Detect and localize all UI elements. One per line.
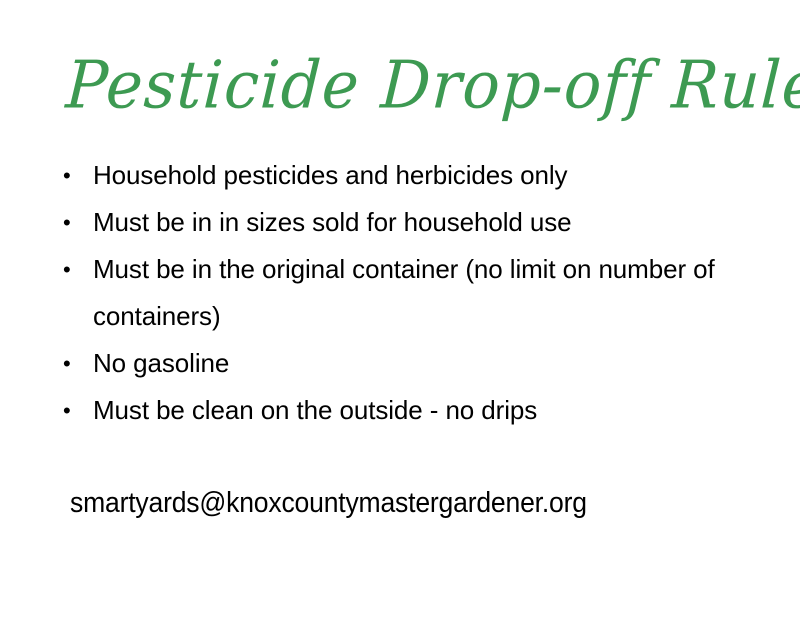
list-item: • Must be in the original container (no … xyxy=(60,246,760,340)
list-item: • Household pesticides and herbicides on… xyxy=(60,152,760,199)
contact-email: smartyards@knoxcountymastergardener.org xyxy=(70,485,587,521)
page-title: Pesticide Drop-off Rules xyxy=(64,48,748,129)
bullet-point-icon: • xyxy=(63,199,79,246)
bullet-point-icon: • xyxy=(63,340,79,387)
list-item: • No gasoline xyxy=(60,340,760,387)
list-item-label: Household pesticides and herbicides only xyxy=(93,152,760,199)
bullet-point-icon: • xyxy=(63,152,79,199)
list-item-label: Must be in the original container (no li… xyxy=(93,246,760,340)
bullet-point-icon: • xyxy=(63,387,79,434)
rules-bullet-list: • Household pesticides and herbicides on… xyxy=(60,152,760,434)
list-item-label: Must be in in sizes sold for household u… xyxy=(93,199,760,246)
list-item-label: No gasoline xyxy=(93,340,760,387)
list-item: • Must be in in sizes sold for household… xyxy=(60,199,760,246)
slide-canvas: Pesticide Drop-off Rules • Household pes… xyxy=(0,0,800,618)
list-item: • Must be clean on the outside - no drip… xyxy=(60,387,760,434)
bullet-point-icon: • xyxy=(63,246,79,293)
list-item-label: Must be clean on the outside - no drips xyxy=(93,387,760,434)
